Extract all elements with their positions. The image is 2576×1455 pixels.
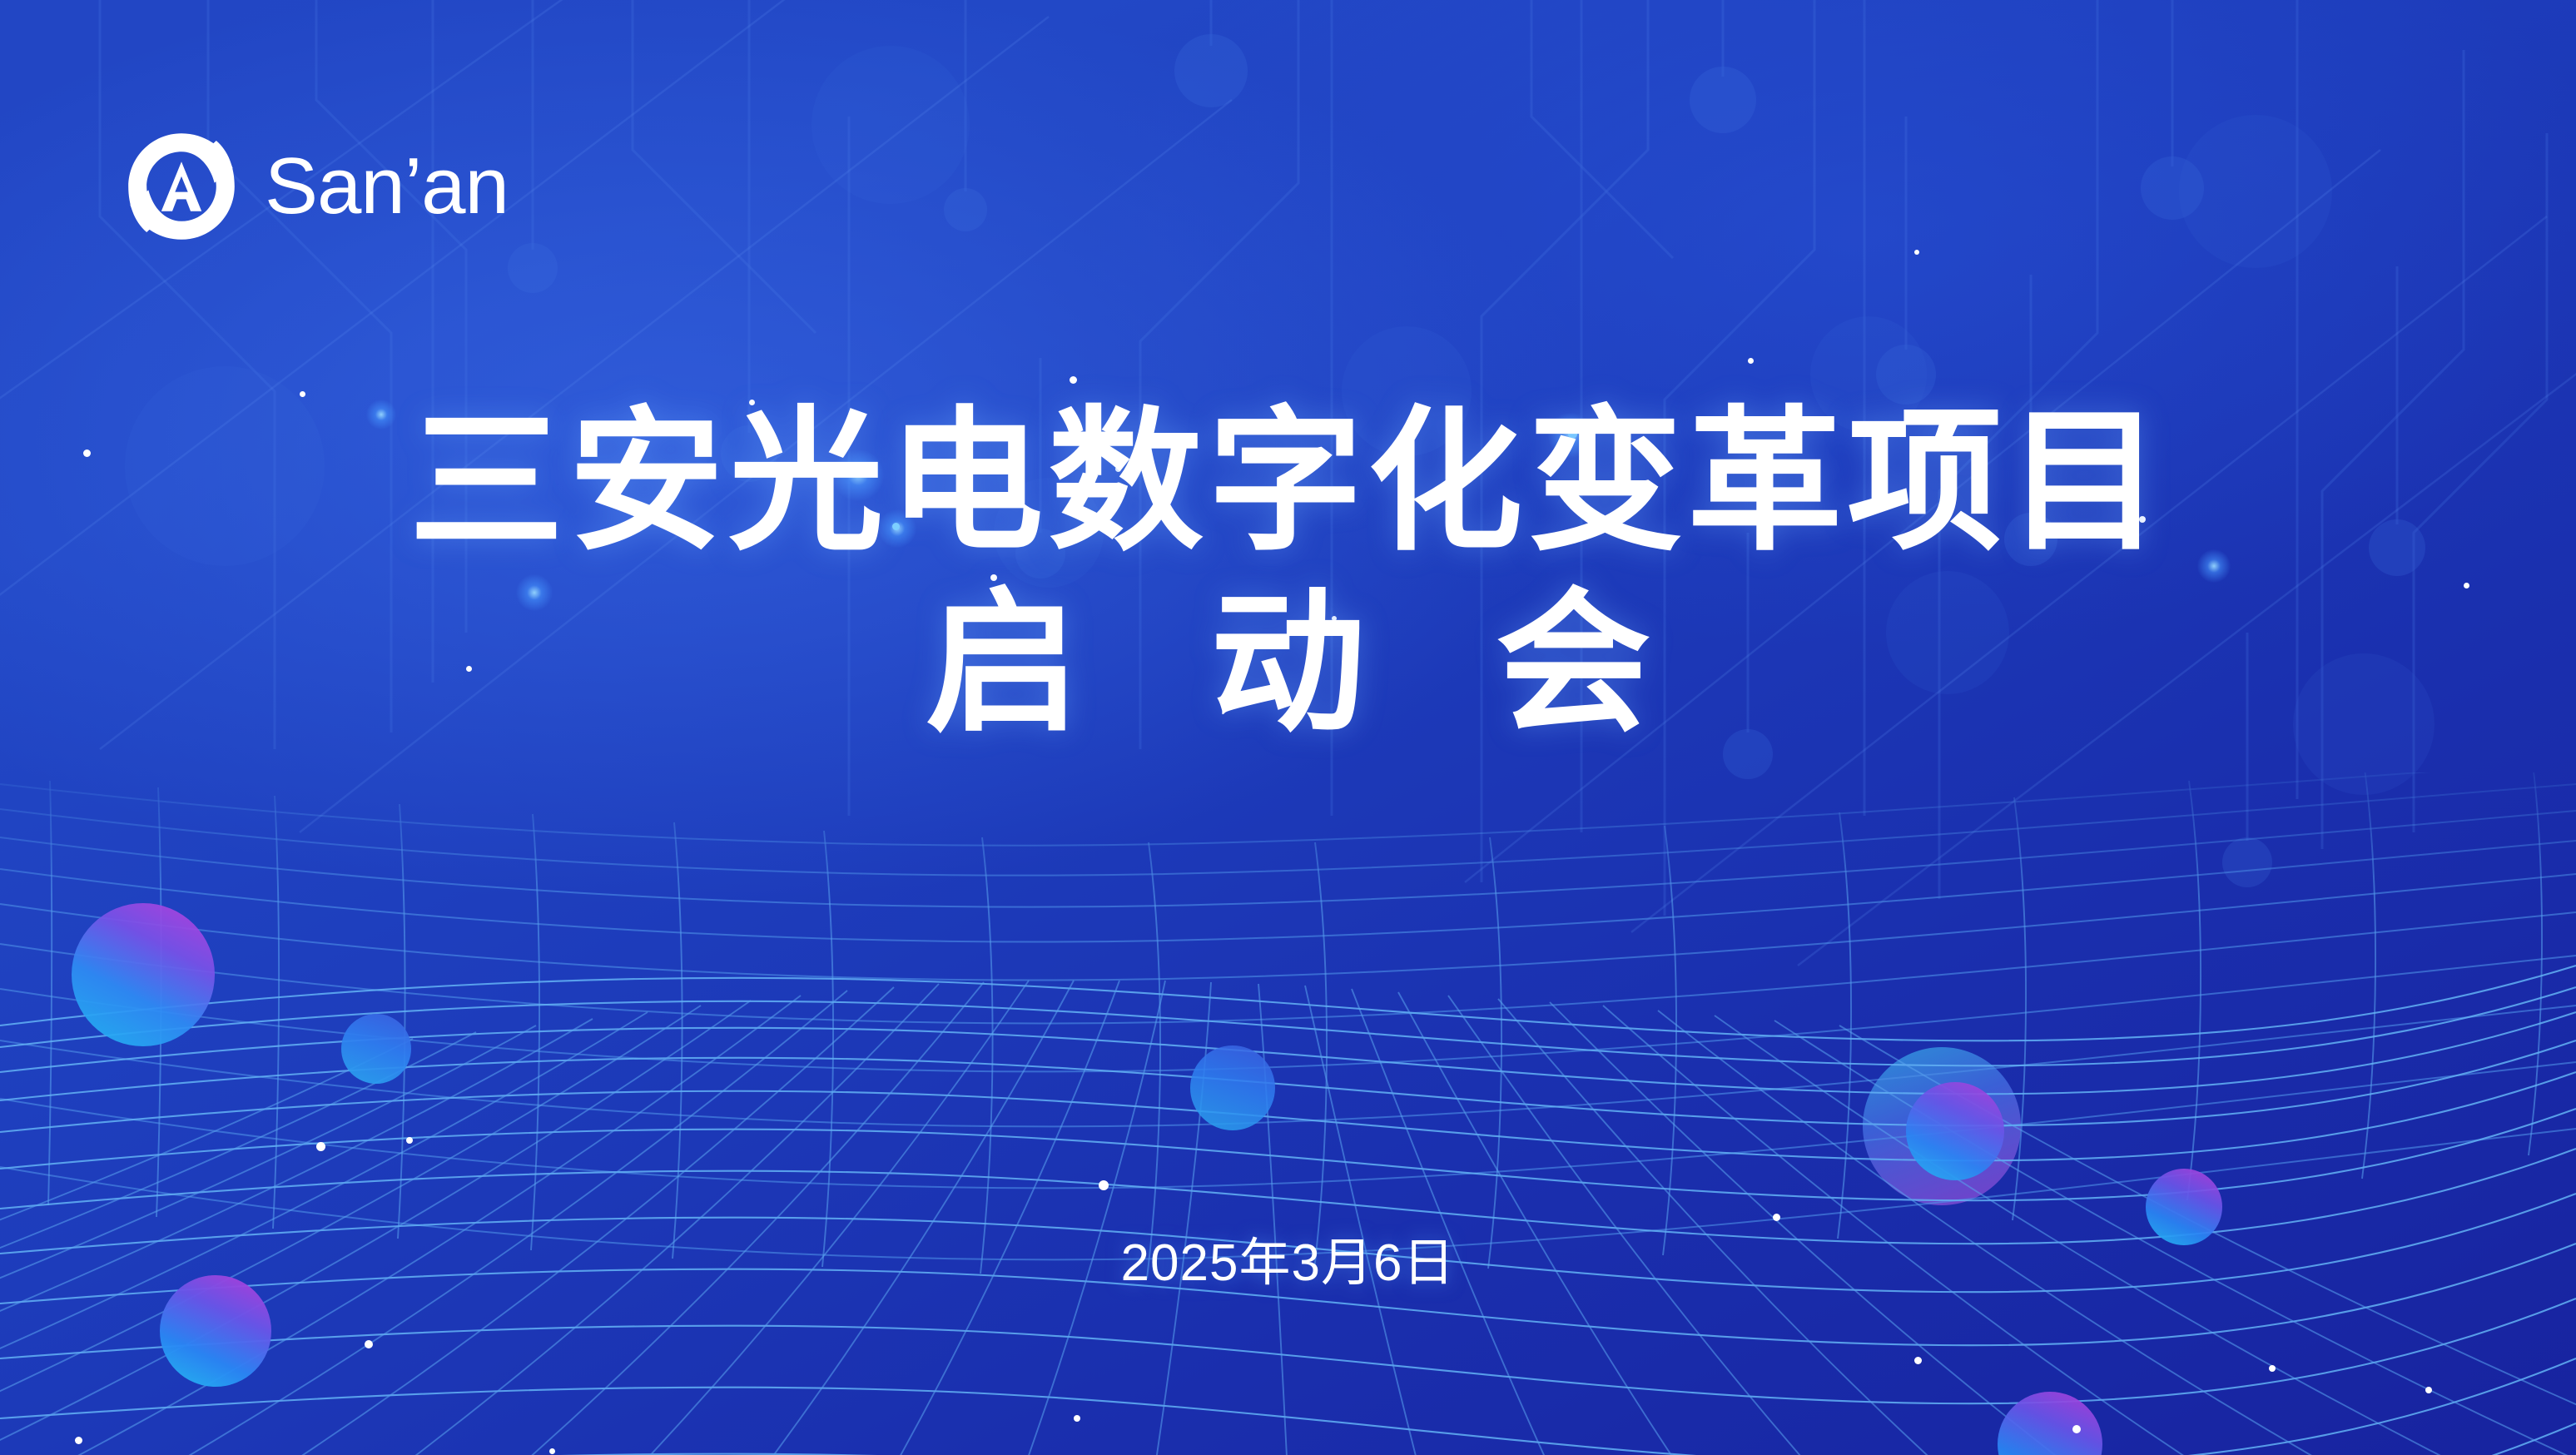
gradient-sphere-small-left <box>341 1014 411 1084</box>
sanan-circle-a-logo-icon <box>127 132 236 241</box>
slide-canvas: San’an 三安光电数字化变革项目 启 动 会 2025年3月6日 <box>0 0 2576 1455</box>
title-line-1: 三安光电数字化变革项目 <box>0 391 2576 573</box>
title-line-2: 启 动 会 <box>0 573 2576 754</box>
page-title: 三安光电数字化变革项目 启 动 会 <box>0 391 2576 753</box>
wireframe-wave-mesh <box>0 772 2576 1455</box>
brand-wordmark: San’an <box>265 146 509 226</box>
gradient-sphere-upper-left <box>72 903 215 1046</box>
gradient-sphere-right <box>1906 1082 2004 1180</box>
gradient-sphere-center <box>1190 1045 1275 1130</box>
brand-logo[interactable]: San’an <box>127 132 509 241</box>
event-date: 2025年3月6日 <box>0 1220 2576 1295</box>
